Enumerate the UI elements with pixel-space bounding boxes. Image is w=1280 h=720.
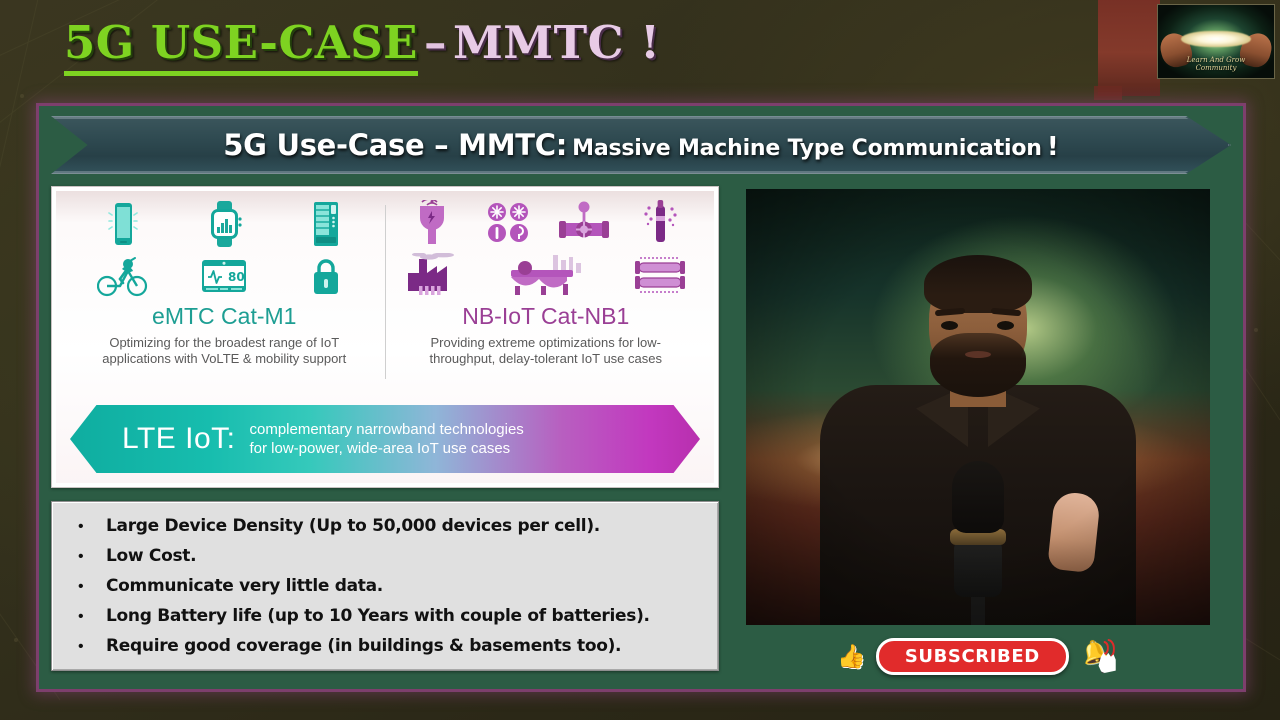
page-title-pink: MMTC ! (453, 16, 660, 69)
list-item: • Long Battery life (up to 10 Years with… (78, 606, 700, 627)
vending-machine-icon (275, 197, 377, 251)
list-item-text: Large Device Density (Up to 50,000 devic… (106, 516, 600, 537)
right-video-column: 👍 SUBSCRIBED 🔔 (743, 186, 1213, 678)
list-item: • Low Cost. (78, 546, 700, 567)
bullet-marker: • (78, 547, 106, 567)
lte-iot-banner: LTE IoT: complementary narrowband techno… (70, 405, 700, 473)
bullet-marker: • (78, 607, 106, 627)
emtc-description: Optimizing for the broadest range of IoT… (79, 335, 369, 367)
bullet-marker: • (78, 517, 106, 537)
lte-iot-label: LTE IoT: (122, 422, 235, 456)
lte-iot-description: complementary narrowband technologies fo… (249, 420, 523, 458)
header-colon: : (556, 128, 567, 162)
header-subtitle: Massive Machine Type Communication (572, 136, 1042, 161)
factory-icon (394, 249, 470, 301)
bullet-marker: • (78, 637, 106, 657)
bridge-infrastructure-icon (470, 249, 622, 301)
heart-rate-value: 80 (228, 270, 245, 284)
diagram-columns: 80 (64, 197, 706, 393)
nbiot-description: Providing extreme optimizations for low-… (401, 335, 691, 367)
notification-bell-group[interactable]: 🔔 (1079, 639, 1119, 673)
slide-body: 80 (51, 186, 1231, 678)
thumbs-up-icon[interactable]: 👍 (837, 645, 866, 668)
cyclist-icon (72, 251, 174, 301)
page-title-green: 5G USE-CASE (64, 16, 418, 76)
pipeline-valve-icon (546, 197, 622, 249)
slide-header-text: 5G Use-Case – MMTC: Massive Machine Type… (223, 128, 1058, 162)
emtc-icon-grid: 80 (72, 197, 377, 301)
smart-meter-icon (394, 197, 470, 249)
logo-caption-line2: Community (1158, 64, 1274, 72)
list-item-text: Long Battery life (up to 10 Years with c… (106, 606, 650, 627)
utility-meters-icon (470, 197, 546, 249)
sensor-probe-icon (622, 197, 698, 249)
nbiot-column: NB-IoT Cat-NB1 Providing extreme optimiz… (386, 197, 707, 393)
webcam-vignette (746, 189, 1210, 625)
title-row: 5G USE-CASE–MMTC ! Learn And Grow Commun… (0, 0, 1280, 100)
page-title-dash: – (424, 16, 447, 69)
logo-caption-line1: Learn And Grow (1158, 56, 1274, 64)
header-main-title: 5G Use-Case – MMTC (223, 128, 555, 162)
pipes-icon (622, 249, 698, 301)
slide-frame: 5G Use-Case – MMTC: Massive Machine Type… (36, 103, 1246, 692)
list-item: • Communicate very little data. (78, 576, 700, 597)
padlock-icon (275, 251, 377, 301)
heart-rate-monitor-icon: 80 (174, 251, 276, 301)
subscribed-button[interactable]: SUBSCRIBED (876, 638, 1069, 675)
emtc-column: 80 (64, 197, 385, 393)
learn-and-grow-community-logo: Learn And Grow Community (1157, 4, 1275, 79)
key-points-list: • Large Device Density (Up to 50,000 dev… (51, 501, 719, 671)
smartphone-icon (72, 197, 174, 251)
smartwatch-icon (174, 197, 276, 251)
bullet-marker: • (78, 577, 106, 597)
list-item-text: Communicate very little data. (106, 576, 383, 597)
lte-iot-desc-line1: complementary narrowband technologies (249, 420, 523, 439)
list-item: • Large Device Density (Up to 50,000 dev… (78, 516, 700, 537)
nbiot-title: NB-IoT Cat-NB1 (462, 303, 629, 330)
logo-glowing-book-icon (1181, 31, 1251, 47)
lte-iot-diagram: 80 (51, 186, 719, 488)
page-title: 5G USE-CASE–MMTC ! (64, 16, 660, 69)
list-item-text: Low Cost. (106, 546, 196, 567)
header-exclamation: ! (1047, 132, 1059, 162)
lte-iot-desc-line2: for low-power, wide-area IoT use cases (249, 439, 523, 458)
slide-header-banner: 5G Use-Case – MMTC: Massive Machine Type… (51, 116, 1231, 174)
left-content-column: 80 (51, 186, 719, 678)
presenter-webcam[interactable] (743, 186, 1213, 628)
list-item-text: Require good coverage (in buildings & ba… (106, 636, 621, 657)
nbiot-icon-grid (394, 197, 699, 301)
list-item: • Require good coverage (in buildings & … (78, 636, 700, 657)
subscribe-bar: 👍 SUBSCRIBED 🔔 (743, 638, 1213, 674)
logo-caption: Learn And Grow Community (1158, 56, 1274, 72)
emtc-title: eMTC Cat-M1 (152, 303, 296, 330)
